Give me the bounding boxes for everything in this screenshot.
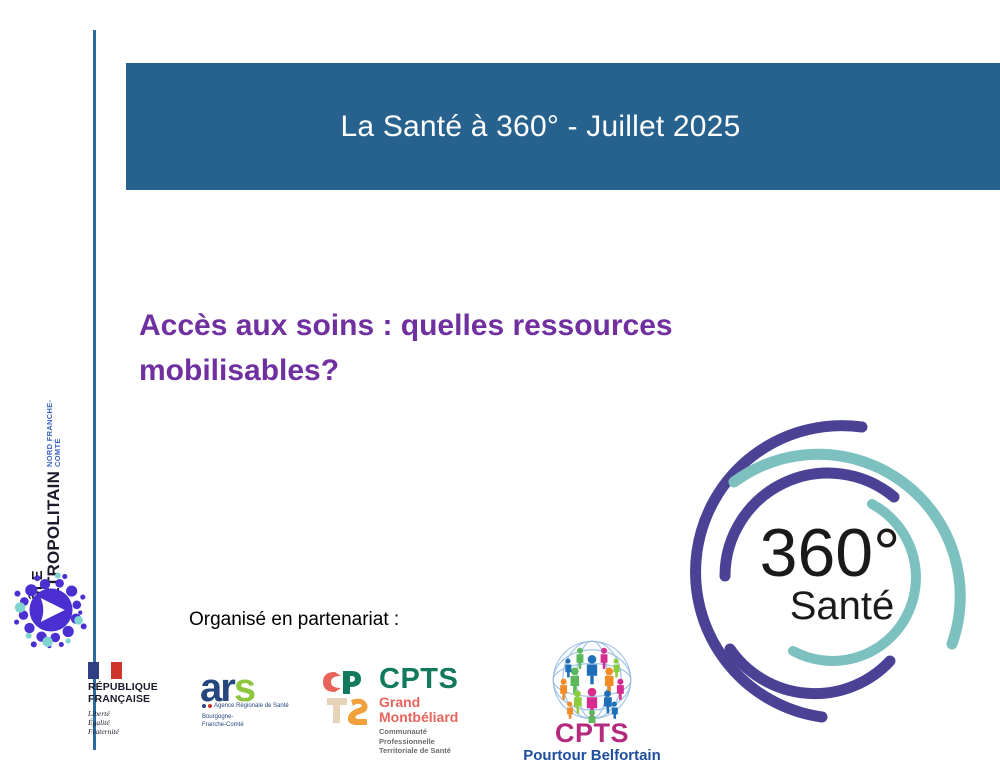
republique-name: RÉPUBLIQUE FRANÇAISE <box>88 682 180 706</box>
banner-title: La Santé à 360° - Juillet 2025 <box>341 110 741 144</box>
dot-cluster-play-icon <box>8 560 94 660</box>
pole-logo-line3: NORD FRANCHE-COMTÉ <box>46 393 61 467</box>
logo-360-word: Santé <box>790 584 895 628</box>
cpts-gm-acronym: CPTS <box>379 666 481 694</box>
cpts-gm-subtitle-line1: Communauté Professionnelle <box>379 727 481 746</box>
french-flag-icon <box>88 662 122 679</box>
ars-region-line1: Bourgogne- <box>202 714 244 722</box>
cpts-gm-subtitle-line2: Territoriale de Santé <box>379 746 481 755</box>
ars-bullet-red-icon <box>208 704 212 708</box>
motto-line1: Liberté <box>88 709 180 718</box>
cpts-letter-shapes-icon <box>321 668 376 728</box>
partner-logo-cpts-grand-montbeliard: CPTS Grand Montbéliard Communauté Profes… <box>321 666 481 736</box>
motto-line2: Égalité <box>88 718 180 727</box>
partner-logo-republique-francaise: RÉPUBLIQUE FRANÇAISE Liberté Égalité Fra… <box>88 662 180 742</box>
cpts-gm-text: CPTS Grand Montbéliard Communauté Profes… <box>379 666 481 755</box>
republique-name-line1: RÉPUBLIQUE <box>88 682 180 694</box>
ars-region-line2: Franche-Comté <box>202 722 244 730</box>
pole-metropolitain-logo: PÔLE MÉTROPOLITAIN NORD FRANCHE-COMTÉ <box>8 415 88 665</box>
ars-bullet-blue-icon <box>202 704 206 708</box>
logo-360-number: 360° <box>760 515 901 591</box>
partnership-label: Organisé en partenariat : <box>189 609 399 631</box>
concentric-arcs-icon: 360° Santé <box>662 404 992 746</box>
ars-subtitle: Agence Régionale de Santé <box>202 703 289 709</box>
ars-subtitle-text: Agence Régionale de Santé <box>214 703 289 709</box>
cpts-gm-subtitle: Communauté Professionnelle Territoriale … <box>379 727 481 755</box>
partner-logo-cpts-pourtour-belfortain: CPTS Pourtour Belfortain <box>522 637 662 749</box>
motto-line3: Fraternité <box>88 727 180 736</box>
republique-name-line2: FRANÇAISE <box>88 694 180 706</box>
header-banner: La Santé à 360° - Juillet 2025 <box>126 63 1000 190</box>
cpts-pb-territory: Pourtour Belfortain <box>522 748 662 765</box>
republique-motto: Liberté Égalité Fraternité <box>88 709 180 736</box>
ars-wordmark: ars <box>200 668 254 708</box>
partner-logo-ars: ars Agence Régionale de Santé Bourgogne-… <box>200 668 296 734</box>
cpts-gm-territory: Grand Montbéliard <box>379 695 481 726</box>
ars-region: Bourgogne- Franche-Comté <box>202 714 244 729</box>
cpts-pb-acronym: CPTS <box>522 720 662 747</box>
people-globe-icon <box>549 637 635 723</box>
page-title: Accès aux soins : quelles ressources mob… <box>139 303 849 393</box>
